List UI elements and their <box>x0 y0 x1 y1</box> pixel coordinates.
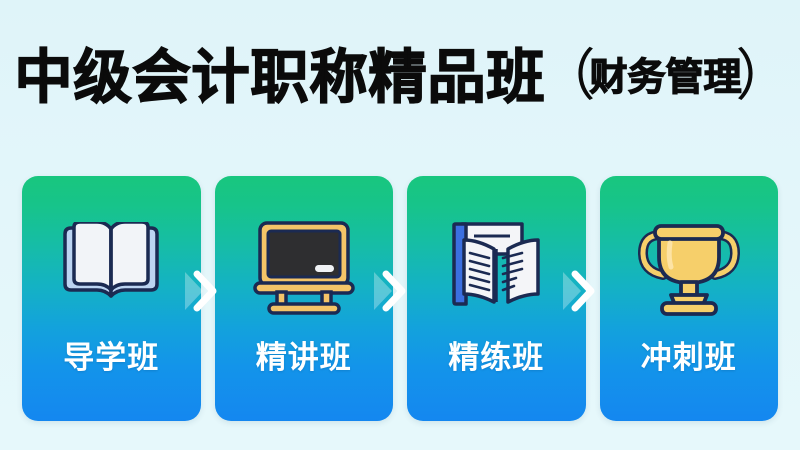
open-book-icon <box>55 218 167 318</box>
course-stage-card-2[interactable]: 精讲班 <box>215 176 394 421</box>
course-stage-label-4: 冲刺班 <box>600 332 779 377</box>
title-subject-text: 财务管理 <box>590 58 742 96</box>
poster-canvas: 中级会计职称精品班（财务管理） 导学班 <box>0 0 800 450</box>
title-paren-close: ） <box>736 49 792 105</box>
open-textbook-icon <box>440 218 552 318</box>
course-stage-card-1[interactable]: 导学班 <box>22 176 201 421</box>
course-stage-label-1: 导学班 <box>22 332 201 377</box>
blackboard-icon <box>248 218 360 318</box>
course-stage-label-3: 精练班 <box>407 332 586 377</box>
course-stage-card-3[interactable]: 精练班 <box>407 176 586 421</box>
course-stage-card-4[interactable]: 冲刺班 <box>600 176 779 421</box>
page-title: 中级会计职称精品班（财务管理） <box>0 48 800 106</box>
title-paren-open: （ <box>540 49 596 105</box>
title-main-text: 中级会计职称精品班 <box>14 48 545 106</box>
course-stage-list: 导学班 <box>22 176 778 421</box>
course-stage-label-2: 精讲班 <box>215 332 394 377</box>
trophy-icon <box>633 218 745 318</box>
